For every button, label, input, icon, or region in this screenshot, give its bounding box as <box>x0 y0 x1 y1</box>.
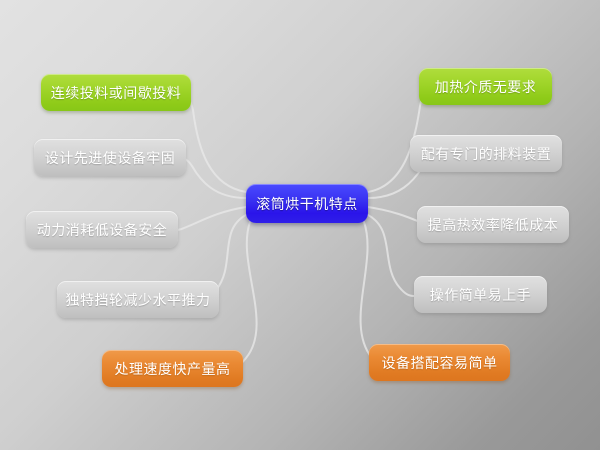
mindmap-branch-label: 配有专门的排料装置 <box>421 144 552 164</box>
mindmap-center-node[interactable]: 滚筒烘干机特点 <box>246 184 368 223</box>
mindmap-branch-node-9[interactable]: 处理速度快产量高 <box>102 350 243 387</box>
mindmap-branch-label: 加热介质无要求 <box>435 77 537 97</box>
mindmap-branch-label: 设计先进使设备牢固 <box>45 148 176 168</box>
mindmap-branch-node-1[interactable]: 连续投料或间歇投料 <box>41 74 191 111</box>
connector-line <box>228 222 257 369</box>
mindmap-canvas: 滚筒烘干机特点 连续投料或间歇投料 加热介质无要求 设计先进使设备牢固 配有专门… <box>0 0 600 450</box>
mindmap-branch-node-3[interactable]: 设计先进使设备牢固 <box>34 139 186 176</box>
mindmap-branch-label: 动力消耗低设备安全 <box>37 220 168 240</box>
mindmap-branch-label: 连续投料或间歇投料 <box>51 83 182 103</box>
mindmap-branch-node-4[interactable]: 配有专门的排料装置 <box>410 135 562 172</box>
mindmap-branch-node-10[interactable]: 设备搭配容易简单 <box>369 344 510 381</box>
connector-line <box>368 215 414 296</box>
mindmap-branch-node-7[interactable]: 独特挡轮减少水平推力 <box>57 281 219 318</box>
mindmap-branch-node-6[interactable]: 提高热效率降低成本 <box>417 206 569 243</box>
mindmap-branch-node-2[interactable]: 加热介质无要求 <box>419 68 552 105</box>
mindmap-branch-node-8[interactable]: 操作简单易上手 <box>414 276 547 313</box>
mindmap-center-label: 滚筒烘干机特点 <box>256 194 358 214</box>
mindmap-branch-label: 处理速度快产量高 <box>115 359 231 379</box>
mindmap-branch-label: 提高热效率降低成本 <box>428 215 559 235</box>
mindmap-branch-label: 设备搭配容易简单 <box>382 353 498 373</box>
mindmap-branch-node-5[interactable]: 动力消耗低设备安全 <box>26 211 178 248</box>
mindmap-branch-label: 操作简单易上手 <box>430 285 532 305</box>
connector-line <box>178 158 246 198</box>
mindmap-branch-label: 独特挡轮减少水平推力 <box>66 290 211 310</box>
